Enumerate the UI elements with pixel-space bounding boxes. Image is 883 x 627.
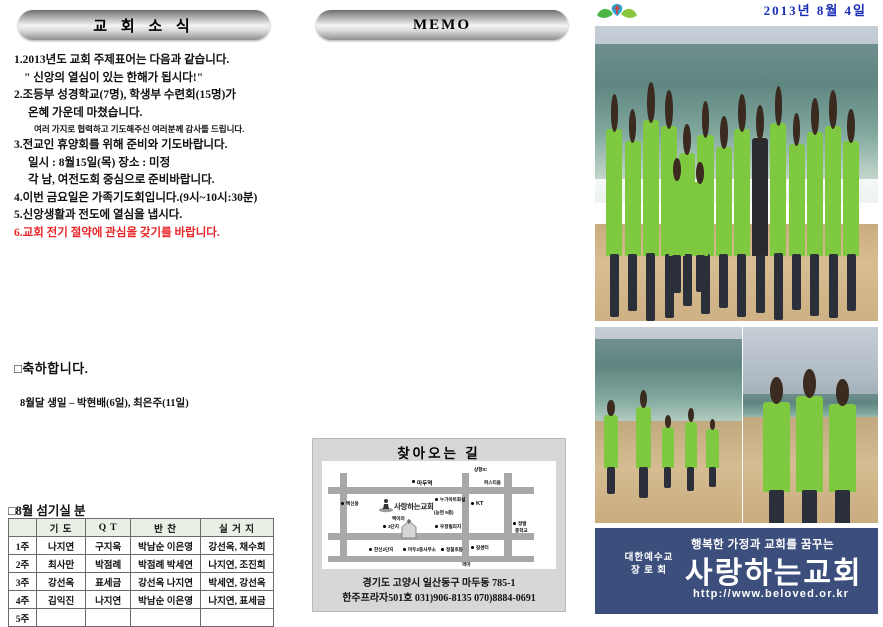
map-label: KT bbox=[476, 501, 483, 507]
column-header bbox=[9, 519, 37, 537]
map-label: 우정빌리지 bbox=[440, 524, 461, 530]
column-header: 기 도 bbox=[36, 519, 85, 537]
map-label: 백이러 bbox=[392, 516, 405, 522]
group-beach-photo bbox=[595, 26, 878, 321]
map-point-marker bbox=[471, 502, 474, 505]
map-point-marker bbox=[369, 548, 372, 551]
duty-roster-title: □8월 섬기실 분 bbox=[8, 500, 86, 519]
map-point-marker bbox=[513, 522, 516, 525]
notice-list: 1.2013년도 교회 주제표어는 다음과 같습니다. " 신앙의 열심이 있는… bbox=[14, 52, 282, 242]
map-point-marker bbox=[383, 525, 386, 528]
notice-line: 3.전교인 휴양회를 위해 준비와 기도바랍니다. bbox=[14, 137, 282, 155]
map-label: 마두역 bbox=[417, 479, 432, 487]
directions-title: 찾아오는 길 bbox=[313, 439, 565, 462]
map-church-name: 사랑하는교회 bbox=[394, 501, 434, 512]
bulletin-page: 교 회 소 식 1.2013년도 교회 주제표어는 다음과 같습니다. " 신앙… bbox=[0, 0, 883, 619]
table-cell: 3주 bbox=[9, 573, 37, 591]
three-boys-photo bbox=[743, 327, 878, 523]
table-cell: 박세연, 강선옥 bbox=[201, 573, 274, 591]
right-column: 2013년 8월 4일 bbox=[590, 0, 883, 619]
map-label: 정발 bbox=[518, 521, 526, 527]
duty-roster-table: 기 도 Q T 반 찬 실 거 지 1주 나지연 구지욱 박남순 이은영 강선옥… bbox=[8, 518, 274, 627]
memo-banner: MEMO bbox=[316, 10, 568, 40]
table-cell: 구지욱 bbox=[86, 537, 131, 555]
church-logo-icon bbox=[595, 1, 639, 21]
notice-line: 온혜 가운데 마쳤습니다. bbox=[14, 105, 282, 123]
notice-line: 일시 : 8월15일(목) 장소 : 미정 bbox=[14, 155, 282, 173]
table-cell: 최사만 bbox=[36, 555, 85, 573]
map-point-marker bbox=[412, 480, 415, 483]
footer-church-name: 사랑하는교회 bbox=[685, 548, 863, 592]
church-building-icon bbox=[400, 519, 418, 539]
table-cell: 2주 bbox=[9, 555, 37, 573]
church-news-banner: 교 회 소 식 bbox=[18, 10, 270, 40]
notice-line: 각 남, 여전도회 중심으로 준비바랍니다. bbox=[14, 172, 282, 190]
table-header-row: 기 도 Q T 반 찬 실 거 지 bbox=[9, 519, 274, 537]
table-cell: 박점례 bbox=[86, 555, 131, 573]
table-cell bbox=[131, 609, 201, 627]
table-cell bbox=[201, 609, 274, 627]
map-label: 역마 bbox=[462, 562, 470, 568]
notice-line: 여러 가지로 협력하고 기도해주신 여러분께 감사를 드립니다. bbox=[14, 122, 282, 137]
map-point-marker bbox=[441, 548, 444, 551]
map-road-vertical bbox=[340, 473, 347, 562]
table-cell: 나지연 bbox=[36, 537, 85, 555]
church-news-title: 교 회 소 식 bbox=[93, 15, 194, 36]
map-point-marker bbox=[435, 498, 438, 501]
table-cell: 강선옥 나지연 bbox=[131, 573, 201, 591]
notice-line: " 신앙의 열심이 있는 한해가 됩시다!" bbox=[14, 70, 282, 88]
table-cell bbox=[36, 609, 85, 627]
table-row: 4주 김익진 나지연 박남순 이은영 나지연, 표세금 bbox=[9, 591, 274, 609]
table-row: 5주 bbox=[9, 609, 274, 627]
table-cell: 박점례 박세연 bbox=[131, 555, 201, 573]
beach-wading-photo bbox=[595, 327, 742, 523]
church-address: 경기도 고양시 일산동구 마두동 785-1 한주프라자501호 031)906… bbox=[313, 576, 565, 606]
bulletin-date: 2013년 8월 4일 bbox=[764, 0, 867, 19]
map-label: 백신용 bbox=[346, 501, 359, 507]
notice-line: 2.조등부 성경학교(7명), 학생부 수련회(15명)가 bbox=[14, 87, 282, 105]
map-point-marker bbox=[341, 502, 344, 505]
map-church-sublabel: (능현 5층) bbox=[434, 510, 454, 516]
table-row: 2주 최사만 박점례 박점례 박세연 나지연, 조진희 bbox=[9, 555, 274, 573]
map-label: 한신2단지 bbox=[374, 547, 393, 553]
map-label: 3단지 bbox=[388, 524, 399, 530]
table-cell: 박남순 이은영 bbox=[131, 537, 201, 555]
notice-line: 5.신앙생활과 전도에 열심을 냅시다. bbox=[14, 207, 282, 225]
column-header: 실 거 지 bbox=[201, 519, 274, 537]
table-cell: 나지연, 표세금 bbox=[201, 591, 274, 609]
map-canvas: 사랑하는교회 (능현 5층) 마두역상항IC퍼스티움백신용누가아트화실KT백이러… bbox=[322, 461, 556, 569]
table-cell: 표세금 bbox=[86, 573, 131, 591]
denomination-line-1: 대한예수교 bbox=[613, 552, 685, 565]
memo-title: MEMO bbox=[413, 17, 471, 34]
column-header: 반 찬 bbox=[131, 519, 201, 537]
table-cell bbox=[86, 609, 131, 627]
church-footer: 대한예수교 장 로 회 행복한 가정과 교회를 꿈꾸는 사랑하는교회 http:… bbox=[595, 528, 878, 614]
map-point-marker bbox=[403, 548, 406, 551]
church-symbol-icon bbox=[378, 497, 394, 513]
column-header: Q T bbox=[86, 519, 131, 537]
map-label: 마두2동사무소 bbox=[408, 547, 436, 553]
table-cell: 4주 bbox=[9, 591, 37, 609]
map-label: 정찰호동 bbox=[446, 547, 463, 553]
map-road-vertical bbox=[504, 473, 512, 562]
address-line-1: 경기도 고양시 일산동구 마두동 785-1 bbox=[313, 576, 565, 591]
congratulations-body: 8월달 생일 – 박현배(6일), 최은주(11일) bbox=[14, 395, 282, 410]
table-cell: 5주 bbox=[9, 609, 37, 627]
middle-column: MEMO 찾아오는 길 사랑하는교회 (능현 5층) bbox=[300, 0, 590, 619]
table-cell: 강선옥, 채수희 bbox=[201, 537, 274, 555]
photo-people-group bbox=[606, 109, 866, 257]
table-cell: 나지연 bbox=[86, 591, 131, 609]
photo-people-group bbox=[759, 390, 862, 492]
footer-url[interactable]: http://www.beloved.or.kr bbox=[693, 588, 849, 600]
map-label: 누가아트화실 bbox=[440, 497, 465, 503]
denomination-label: 대한예수교 장 로 회 bbox=[613, 552, 685, 578]
map-label: 퍼스티움 bbox=[484, 480, 501, 486]
right-header: 2013년 8월 4일 bbox=[590, 0, 883, 22]
map-label: 상항IC bbox=[474, 467, 487, 473]
congratulations-section: □축하합니다. 8월달 생일 – 박현배(6일), 최은주(11일) bbox=[14, 358, 282, 410]
notice-line-highlighted: 6.교회 전기 절약에 관심을 갖기를 바랍니다. bbox=[14, 225, 282, 243]
photo-people-group bbox=[601, 402, 736, 469]
left-column: 교 회 소 식 1.2013년도 교회 주제표어는 다음과 같습니다. " 신앙… bbox=[0, 0, 292, 619]
map-point-marker bbox=[471, 546, 474, 549]
notice-line: 4.이번 금요일은 가족기도회입니다.(9시~10시:30분) bbox=[14, 190, 282, 208]
table-cell: 김익진 bbox=[36, 591, 85, 609]
notice-line: 1.2013년도 교회 주제표어는 다음과 같습니다. bbox=[14, 52, 282, 70]
directions-box: 찾아오는 길 사랑하는교회 (능현 5층) bbox=[312, 438, 566, 612]
table-cell: 1주 bbox=[9, 537, 37, 555]
map-road-vertical bbox=[462, 473, 469, 562]
congratulations-heading: □축하합니다. bbox=[14, 358, 282, 377]
map-point-marker bbox=[435, 525, 438, 528]
table-cell: 나지연, 조진희 bbox=[201, 555, 274, 573]
address-line-2: 한주프라자501호 031)906-8135 070)8884-0691 bbox=[313, 591, 565, 606]
table-cell: 박남순 이은영 bbox=[131, 591, 201, 609]
table-cell: 강선옥 bbox=[36, 573, 85, 591]
map-label: 잠센터 bbox=[476, 545, 489, 551]
table-row: 1주 나지연 구지욱 박남순 이은영 강선옥, 채수희 bbox=[9, 537, 274, 555]
denomination-line-2: 장 로 회 bbox=[613, 565, 685, 578]
table-row: 3주 강선옥 표세금 강선옥 나지연 박세연, 강선옥 bbox=[9, 573, 274, 591]
map-label: 중학교 bbox=[515, 528, 528, 534]
